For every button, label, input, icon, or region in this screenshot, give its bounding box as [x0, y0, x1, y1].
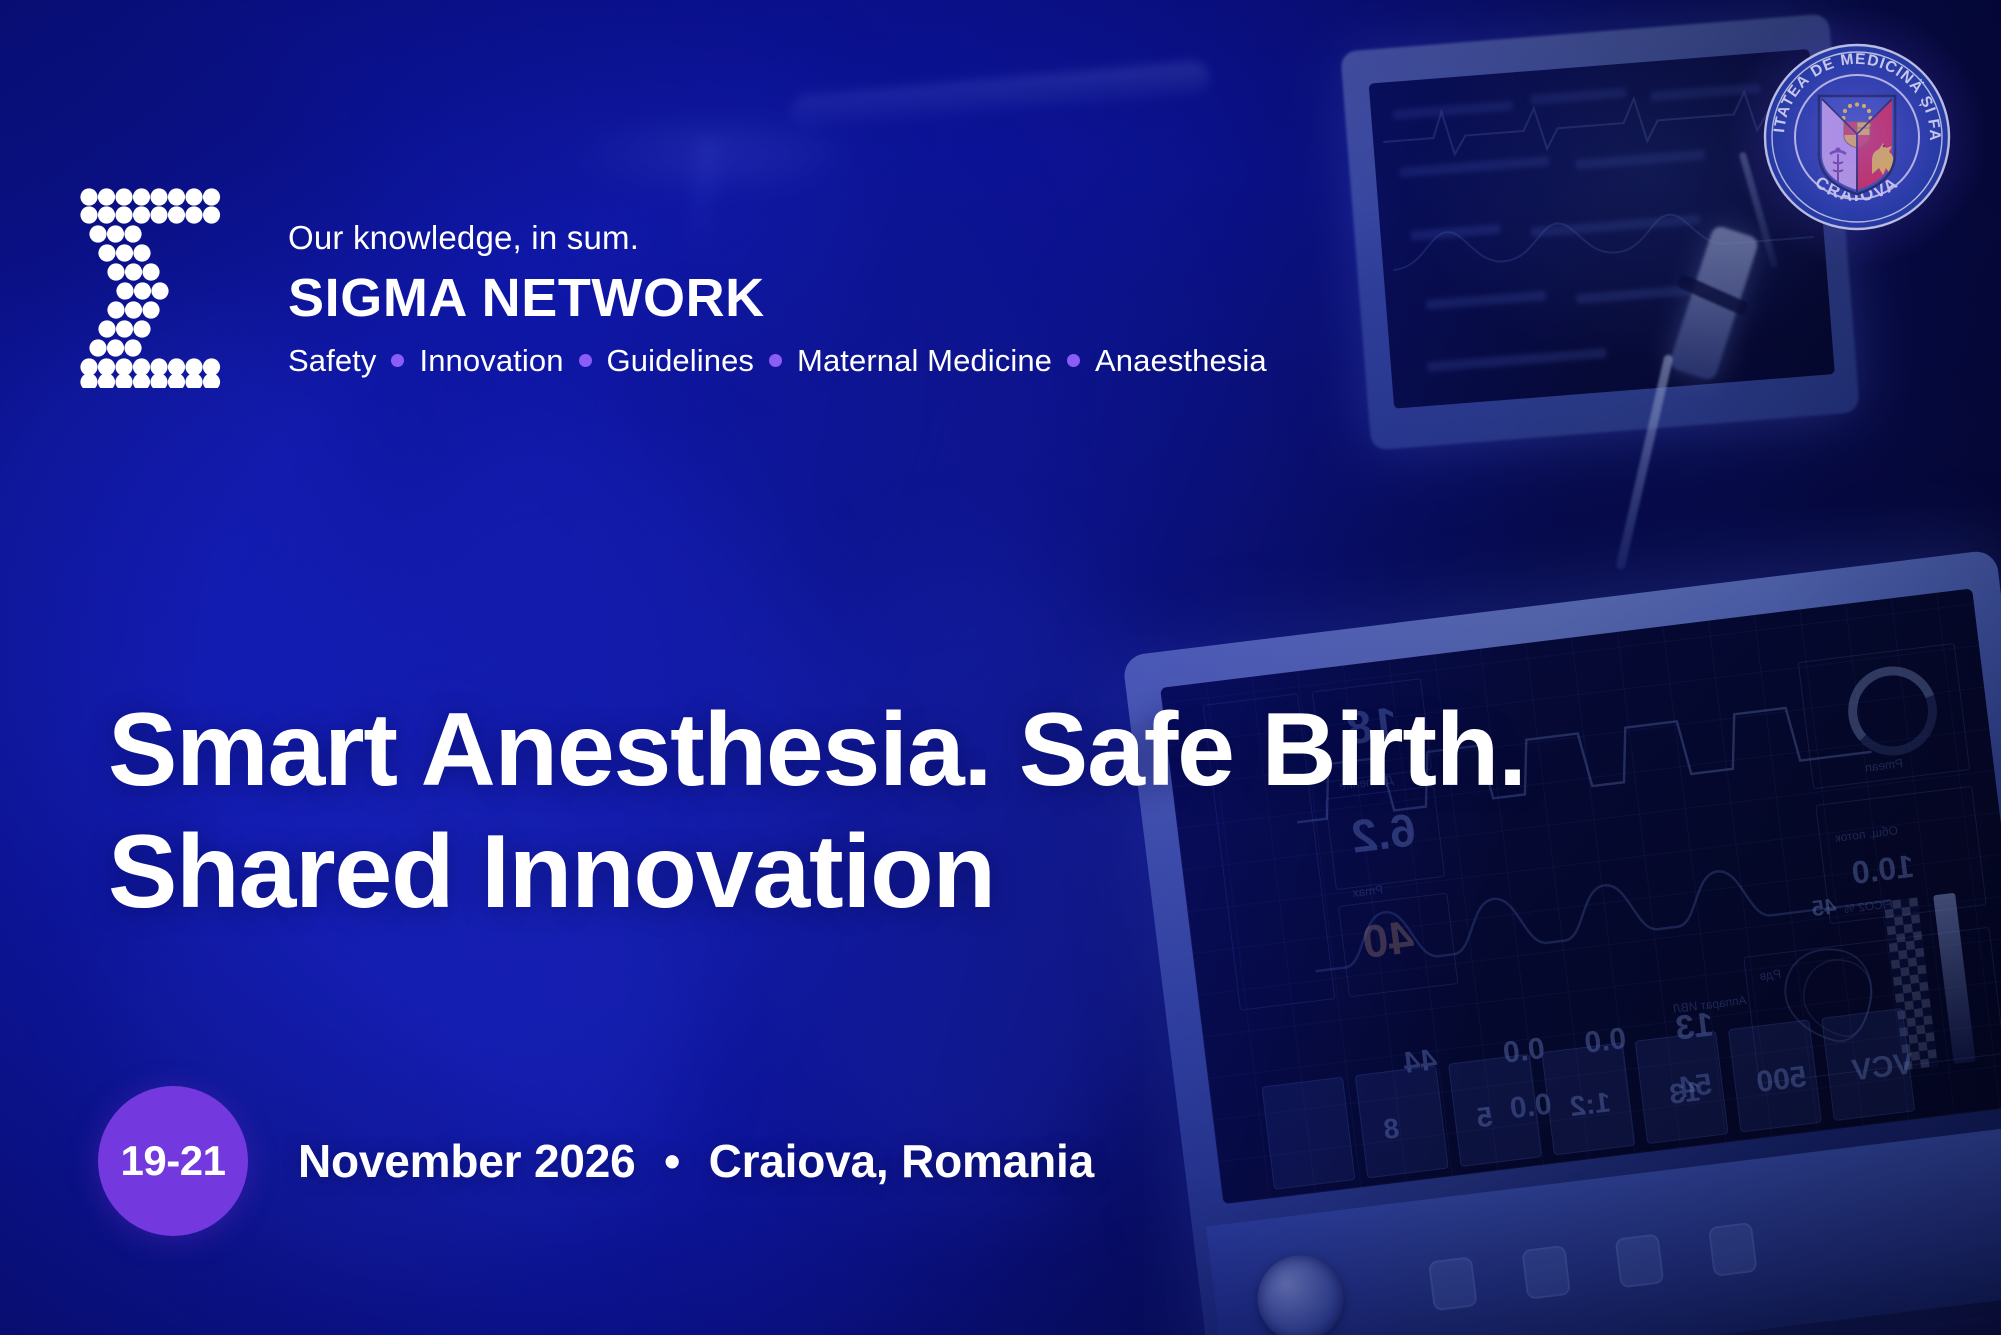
logo-brand-name: SIGMA NETWORK: [288, 270, 1267, 327]
date-separator-bullet: •: [664, 1135, 680, 1187]
logo-keyword-list: Safety Innovation Guidelines Maternal Me…: [288, 343, 1267, 379]
event-location: Craiova, Romania: [709, 1135, 1094, 1187]
sigma-halftone-mark: [78, 186, 230, 388]
event-headline: Smart Anesthesia. Safe Birth. Shared Inn…: [108, 690, 1526, 933]
date-badge: 19-21: [98, 1086, 248, 1236]
keyword-anaesthesia: Anaesthesia: [1095, 343, 1267, 379]
university-crest: UNIVERSITATEA DE MEDICINĂ ȘI FARMACIE CR…: [1762, 42, 1952, 232]
keyword-bullet-icon: [579, 354, 592, 367]
keyword-bullet-icon: [391, 354, 404, 367]
headline-line-2: Shared Innovation: [108, 812, 1526, 934]
headline-line-1: Smart Anesthesia. Safe Birth.: [108, 690, 1526, 812]
event-date-row: 19-21 November 2026 • Craiova, Romania: [98, 1086, 1094, 1236]
event-month-year: November 2026: [298, 1135, 635, 1187]
logo-tagline: Our knowledge, in sum.: [288, 220, 1267, 256]
logo-text-block: Our knowledge, in sum. SIGMA NETWORK Saf…: [288, 186, 1267, 379]
crest-glow: [1728, 8, 1986, 266]
keyword-bullet-icon: [1067, 354, 1080, 367]
keyword-guidelines: Guidelines: [607, 343, 754, 379]
date-location-text: November 2026 • Craiova, Romania: [298, 1134, 1094, 1188]
keyword-maternal-medicine: Maternal Medicine: [797, 343, 1052, 379]
keyword-innovation: Innovation: [419, 343, 563, 379]
keyword-safety: Safety: [288, 343, 376, 379]
logo-lockup: Our knowledge, in sum. SIGMA NETWORK Saf…: [78, 186, 1267, 388]
keyword-bullet-icon: [769, 354, 782, 367]
